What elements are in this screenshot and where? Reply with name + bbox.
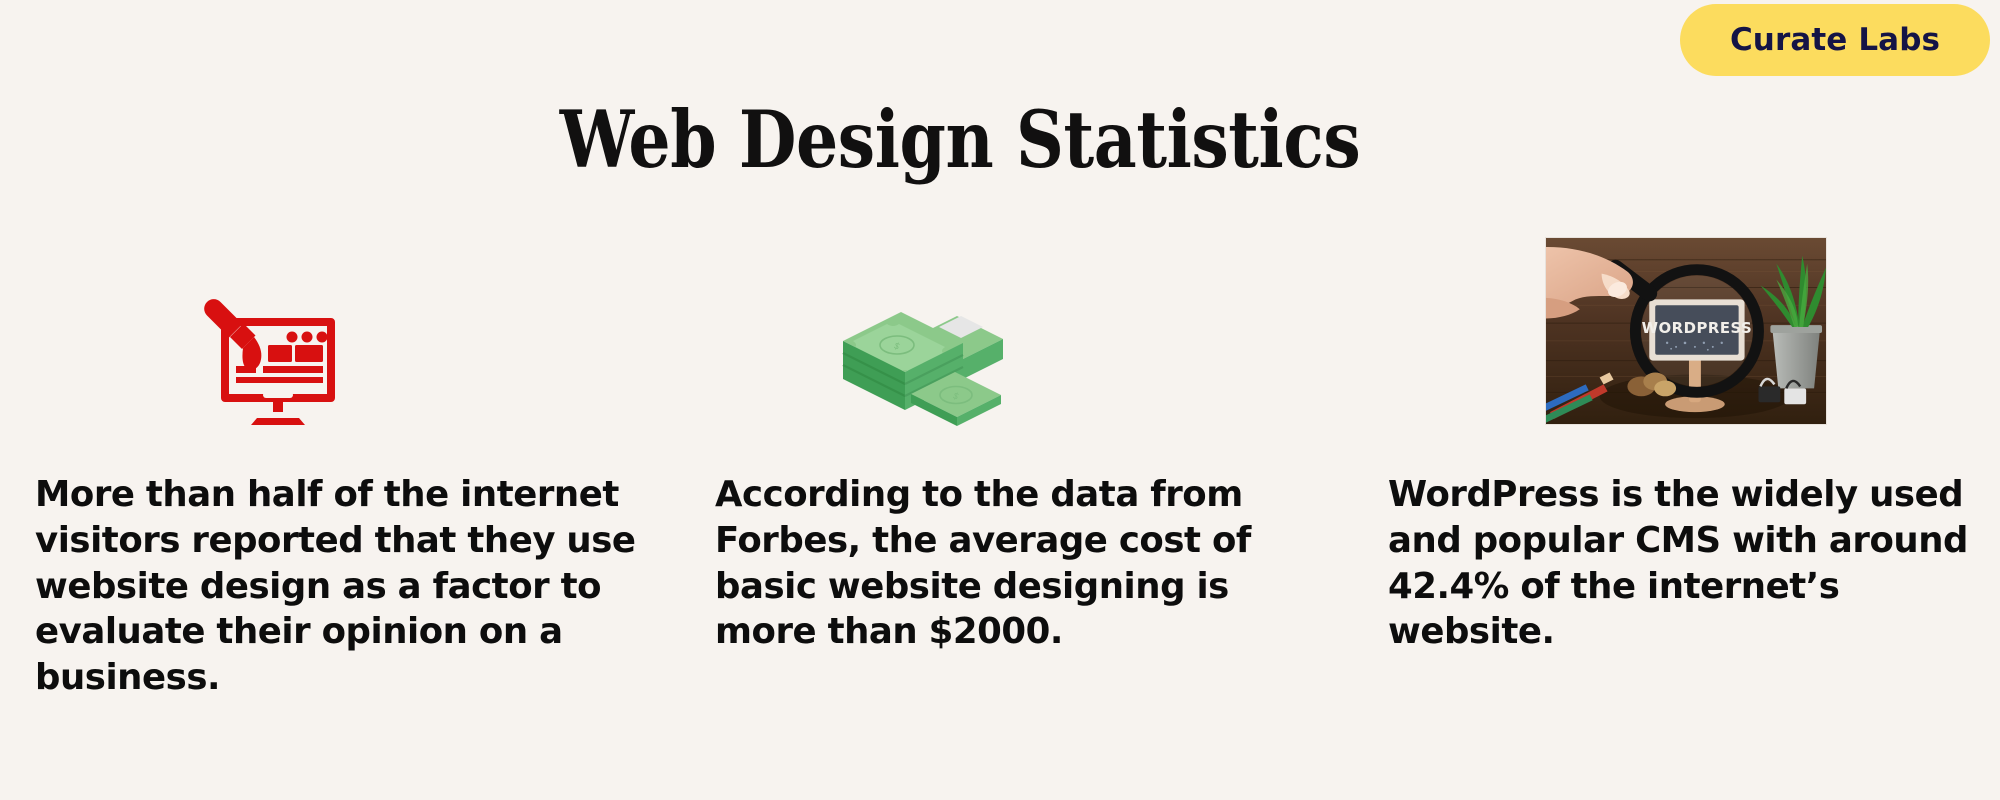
stat-column-2: $ $ According to the data from Forbes, t…: [715, 230, 1275, 700]
wordpress-magnifier-photo: WORDPRESS: [1545, 237, 1827, 425]
brand-label: Curate Labs: [1730, 22, 1940, 58]
stat-visual-1: [35, 230, 655, 426]
stat-column-3: WORDPRESS: [1388, 230, 1988, 700]
stat-text-3: WordPress is the widely used and popular…: [1388, 472, 1988, 655]
stat-column-1: More than half of the internet visitors …: [35, 230, 655, 700]
money-stack-icon: $ $: [835, 294, 1005, 426]
brand-badge[interactable]: Curate Labs: [1680, 4, 1990, 76]
stat-visual-2: $ $: [715, 230, 1275, 426]
monitor-paintbrush-icon: [195, 296, 343, 426]
page-title: Web Design Statistics: [154, 100, 1767, 179]
stat-visual-3: WORDPRESS: [1388, 230, 1988, 426]
stat-text-2: According to the data from Forbes, the a…: [715, 472, 1275, 655]
statistics-columns: More than half of the internet visitors …: [0, 230, 2000, 700]
stat-text-1: More than half of the internet visitors …: [35, 472, 655, 701]
